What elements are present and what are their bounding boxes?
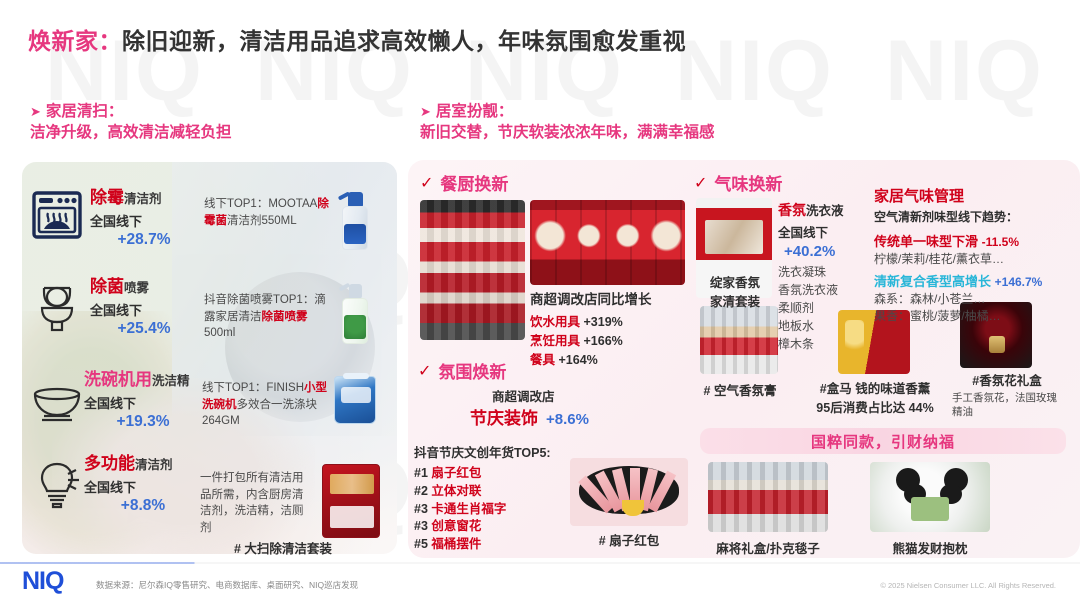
home-scent-management: 家居气味管理 空气清新剂味型线下趋势： 传统单一味型下滑 -11.5% 柠檬/茉… — [874, 185, 1078, 324]
mold-desc-pre: 线下TOP1：MOOTAA — [204, 198, 317, 210]
dishwasher-top1-desc: 线下TOP1：FINISH小型洗碗机多效合一洗涤块264GM — [202, 380, 334, 430]
phone-photo-captions: 绽家香氛 家清套装 — [694, 272, 776, 310]
top5-rank: #3 — [414, 519, 428, 533]
fragrance-renewal-panel: ✓ 气味换新 — [694, 170, 874, 195]
list-item: #5 福桶摆件 — [414, 536, 551, 554]
list-item: #2 立体对联 — [414, 483, 551, 501]
sanitizer-top1-desc: 抖音除菌喷雾TOP1：滴露家居清洁除菌喷雾500ml — [204, 292, 329, 342]
rose-subcaption: 手工香氛花，法国玫瑰精油 — [952, 391, 1062, 419]
list-item: 地板水 — [778, 317, 874, 335]
home-scent-title: 家居气味管理 — [874, 185, 1078, 206]
kitchen-stat-value: +319% — [584, 315, 623, 329]
list-item: #1 扇子红包 — [414, 465, 551, 483]
multipurpose-scope: 全国线下 — [84, 477, 202, 496]
panda-caption: 熊猫发财抱枕 — [870, 538, 990, 557]
oven-icon — [30, 188, 84, 242]
table-row: 饮水用具 +319% — [530, 313, 690, 332]
sanitizer-growth: +25.4% — [90, 320, 198, 338]
page-title-rest: 除旧迎新，清洁用品追求高效懒人，年味氛围愈发重视 — [122, 28, 686, 54]
guocui-banner-text: 国粹同款，引财纳福 — [811, 431, 955, 452]
multipurpose-growth: +8.8% — [84, 497, 202, 515]
guocui-banner: 国粹同款，引财纳福 — [700, 428, 1066, 454]
niq-logo: NIQ — [22, 567, 63, 596]
cleaning-row-sanitizer: 除菌喷雾 全国线下 +25.4% 抖音除菌喷雾TOP1：滴露家居清洁除菌喷雾50… — [22, 272, 397, 367]
top5-rank: #3 — [414, 502, 428, 516]
trend-down-row: 传统单一味型下滑 -11.5% — [874, 231, 1078, 250]
incense-captions: #盒马 钱的味道香薰 95后消费占比达 44% — [800, 378, 950, 416]
kitchen-stats: 商超调改店同比增长 饮水用具 +319% 烹饪用具 +166% 餐具 +164% — [530, 290, 690, 370]
atmosphere-metric: 节庆装饰 +8.6% — [470, 404, 589, 429]
cleaning-row-multipurpose: 多功能清洁剂 全国线下 +8.8% 一件打包所有清洁用品所需，内含厨房清洁剂，洗… — [22, 452, 397, 552]
mahjong-gift-aisle-photo — [708, 462, 828, 532]
top5-label: 创意窗花 — [431, 519, 481, 533]
air-freshener-aisle-photo — [700, 306, 778, 374]
incense-caption: #盒马 钱的味道香薰 — [800, 378, 950, 397]
mold-desc-post: 清洁剂550ML — [227, 215, 297, 227]
kitchen-stat-title: 商超调改店同比增长 — [530, 290, 690, 310]
kitchen-stat-key: 饮水用具 — [530, 315, 580, 329]
watermark-niq: NIQ — [885, 22, 1044, 121]
top5-label: 卡通生肖福字 — [431, 502, 506, 516]
footer-source: 数据来源：尼尔森IQ零售研究、电商数据库、桌面研究、NIQ巡店发现 — [96, 579, 358, 591]
fragrance-metric-hl: 香氛 — [778, 202, 806, 218]
mold-top1-desc: 线下TOP1：MOOTAA除霉菌清洁剂550ML — [204, 196, 329, 229]
sanitizer-scope: 全国线下 — [90, 300, 198, 319]
list-item: 柔顺剂 — [778, 299, 874, 317]
kitchen-panel-title: 餐厨换新 — [440, 170, 508, 195]
trend-up-row: 清新复合香型高增长 +146.7% — [874, 271, 1078, 290]
section-right-line1: 居室扮靓： — [436, 103, 514, 120]
section-heading-right: ➤居室扮靓： 新旧交替，节庆软装浓浓年味，满满幸福感 — [420, 102, 715, 144]
fan-red-envelope-photo — [570, 458, 688, 526]
toilet-icon — [30, 280, 84, 334]
mold-title: 清洁剂 — [124, 192, 162, 206]
fragrance-metrics: 香氛洗衣液 全国线下 +40.2% 洗衣凝珠 香氛洗衣液 柔顺剂 地板水 樟木条 — [778, 200, 874, 353]
atmosphere-panel-title: 氛围焕新 — [438, 358, 506, 383]
page-title-highlight: 焕新家： — [28, 28, 122, 54]
bullet-arrow-icon: ➤ — [420, 104, 431, 119]
cleaning-row-dishwasher: 洗碗机用洗洁精 全国线下 +19.3% 线下TOP1：FINISH小型洗碗机多效… — [22, 368, 397, 450]
dishwasher-growth: +19.3% — [84, 413, 202, 431]
dishwasher-desc-pre: 线下TOP1：FINISH — [202, 382, 304, 394]
multipurpose-metrics: 多功能清洁剂 全国线下 +8.8% — [84, 454, 202, 515]
rose-captions: #香氛花礼盒 手工香氛花，法国玫瑰精油 — [952, 370, 1062, 419]
section-heading-left: ➤家居清扫： 洁净升级，高效清洁减轻负担 — [30, 102, 232, 144]
section-left-line1: 家居清扫： — [46, 103, 124, 120]
kitchen-stat-value: +164% — [559, 353, 598, 367]
table-row: 餐具 +164% — [530, 351, 690, 370]
atmosphere-store-label: 商超调改店 — [492, 386, 555, 405]
spray-bottle-blue-image — [342, 192, 368, 250]
atmosphere-metric-label: 节庆装饰 — [470, 404, 538, 429]
kitchen-stat-value: +166% — [584, 334, 623, 348]
incense-subcaption: 95后消费占比达 44% — [800, 397, 950, 416]
trend-down-label: 传统单一味型下滑 — [874, 234, 978, 249]
rose-caption: #香氛花礼盒 — [952, 370, 1062, 389]
kitchen-stat-key: 烹饪用具 — [530, 334, 580, 348]
kitchen-renewal-panel: ✓ 餐厨换新 — [420, 170, 690, 195]
page-title: 焕新家：除旧迎新，清洁用品追求高效懒人，年味氛围愈发重视 — [28, 22, 686, 56]
trend-up-label: 清新复合香型高增长 — [874, 274, 991, 289]
douyin-top5-heading: 抖音节庆文创年货TOP5: — [414, 442, 551, 461]
multipurpose-title: 清洁剂 — [135, 458, 173, 472]
trend-up-note-2: 果香：蜜桃/菠萝/柚橘… — [874, 307, 1078, 324]
footer-copyright: © 2025 Nielsen Consumer LLC. All Rights … — [880, 581, 1056, 590]
douyin-top5-block: 抖音节庆文创年货TOP5: #1 扇子红包 #2 立体对联 #3 卡通生肖福字 … — [414, 442, 551, 554]
check-icon: ✓ — [694, 173, 707, 193]
detergent-pouch-image — [334, 376, 376, 424]
bullet-arrow-icon: ➤ — [30, 104, 41, 119]
top5-rank: #2 — [414, 484, 428, 498]
phone-caption-1: 绽家香氛 — [694, 272, 776, 291]
kitchen-stat-key: 餐具 — [530, 353, 555, 367]
table-row: 烹饪用具 +166% — [530, 332, 690, 351]
fragrance-scope: 全国线下 — [778, 222, 874, 241]
sanitizer-title: 喷雾 — [124, 281, 149, 295]
list-item: 樟木条 — [778, 335, 874, 353]
trend-up-value: +146.7% — [995, 275, 1043, 289]
mold-growth: +28.7% — [90, 231, 198, 249]
fragrance-panel-title: 气味换新 — [714, 170, 782, 195]
list-item: #3 创意窗花 — [414, 518, 551, 536]
spray-bottle-green-image — [342, 284, 368, 344]
mold-metrics: 除霉清洁剂 全国线下 +28.7% — [90, 188, 198, 249]
panda-fortune-pillow-photo — [870, 462, 990, 532]
trend-down-note: 柠檬/茉莉/桂花/薰衣草… — [874, 250, 1078, 267]
trend-up-note-1: 森系：森林/小苍兰… — [874, 290, 1078, 307]
check-icon: ✓ — [420, 173, 433, 193]
dishwasher-metrics: 洗碗机用洗洁精 全国线下 +19.3% — [84, 370, 202, 431]
atmosphere-metric-value: +8.6% — [546, 411, 589, 428]
lightbulb-icon — [30, 458, 84, 512]
list-item: 洗衣凝珠 — [778, 263, 874, 281]
dishwasher-title-hl: 洗碗机用 — [84, 370, 152, 389]
cleaning-row-mold: 除霉清洁剂 全国线下 +28.7% 线下TOP1：MOOTAA除霉菌清洁剂550… — [22, 182, 397, 274]
top5-label: 福桶摆件 — [431, 537, 481, 551]
dishwasher-title: 洗洁精 — [152, 374, 190, 388]
sanitizer-title-hl: 除菌 — [90, 277, 124, 296]
lion-gift-boxes-photo — [530, 200, 685, 285]
red-gift-box-image — [322, 464, 380, 538]
fan-photo-caption: # 扇子红包 — [570, 530, 688, 549]
bowl-icon — [30, 376, 84, 430]
multipurpose-desc: 一件打包所有清洁用品所需，内含厨房清洁剂，洗洁精，洁厕剂 — [200, 470, 312, 537]
section-left-line2: 洁净升级，高效清洁减轻负担 — [30, 123, 232, 144]
top5-rank: #1 — [414, 466, 428, 480]
top5-label: 扇子红包 — [431, 466, 481, 480]
list-item: #3 卡通生肖福字 — [414, 501, 551, 519]
top5-label: 立体对联 — [431, 484, 481, 498]
air-freshener-caption: # 空气香氛膏 — [690, 380, 790, 399]
fragrance-growth: +40.2% — [784, 243, 874, 260]
sanitizer-desc-hl: 除菌喷雾 — [262, 311, 308, 323]
dishwasher-scope: 全国线下 — [84, 393, 202, 412]
atmosphere-store-text: 商超调改店 — [492, 386, 555, 405]
mahjong-caption: 麻将礼盒/扑克毯子 — [700, 538, 836, 557]
trend-down-value: -11.5% — [982, 235, 1019, 249]
multipurpose-title-hl: 多功能 — [84, 454, 135, 473]
fragrance-metric-name: 洗衣液 — [806, 204, 844, 218]
home-scent-subtitle: 空气清新剂味型线下趋势： — [874, 208, 1078, 225]
footer-divider — [0, 562, 1080, 564]
sanitizer-desc-post: 500ml — [204, 327, 235, 339]
check-icon: ✓ — [418, 361, 431, 381]
slide-root: NIQ NIQ NIQ NIQ NIQ NIQ NIQ NIQ NIQ NIQ … — [0, 0, 1080, 608]
sanitizer-metrics: 除菌喷雾 全国线下 +25.4% — [90, 277, 198, 338]
phone-caption-2: 家清套装 — [694, 291, 776, 310]
section-right-line2: 新旧交替，节庆软装浓浓年味，满满幸福感 — [420, 123, 715, 144]
list-item: 香氛洗衣液 — [778, 281, 874, 299]
top5-rank: #5 — [414, 537, 428, 551]
multipurpose-hashtag: # 大扫除清洁套装 — [234, 538, 332, 557]
mold-title-hl: 除霉 — [90, 188, 124, 207]
shelf-red-display-photo — [420, 200, 525, 340]
mold-scope: 全国线下 — [90, 211, 198, 230]
